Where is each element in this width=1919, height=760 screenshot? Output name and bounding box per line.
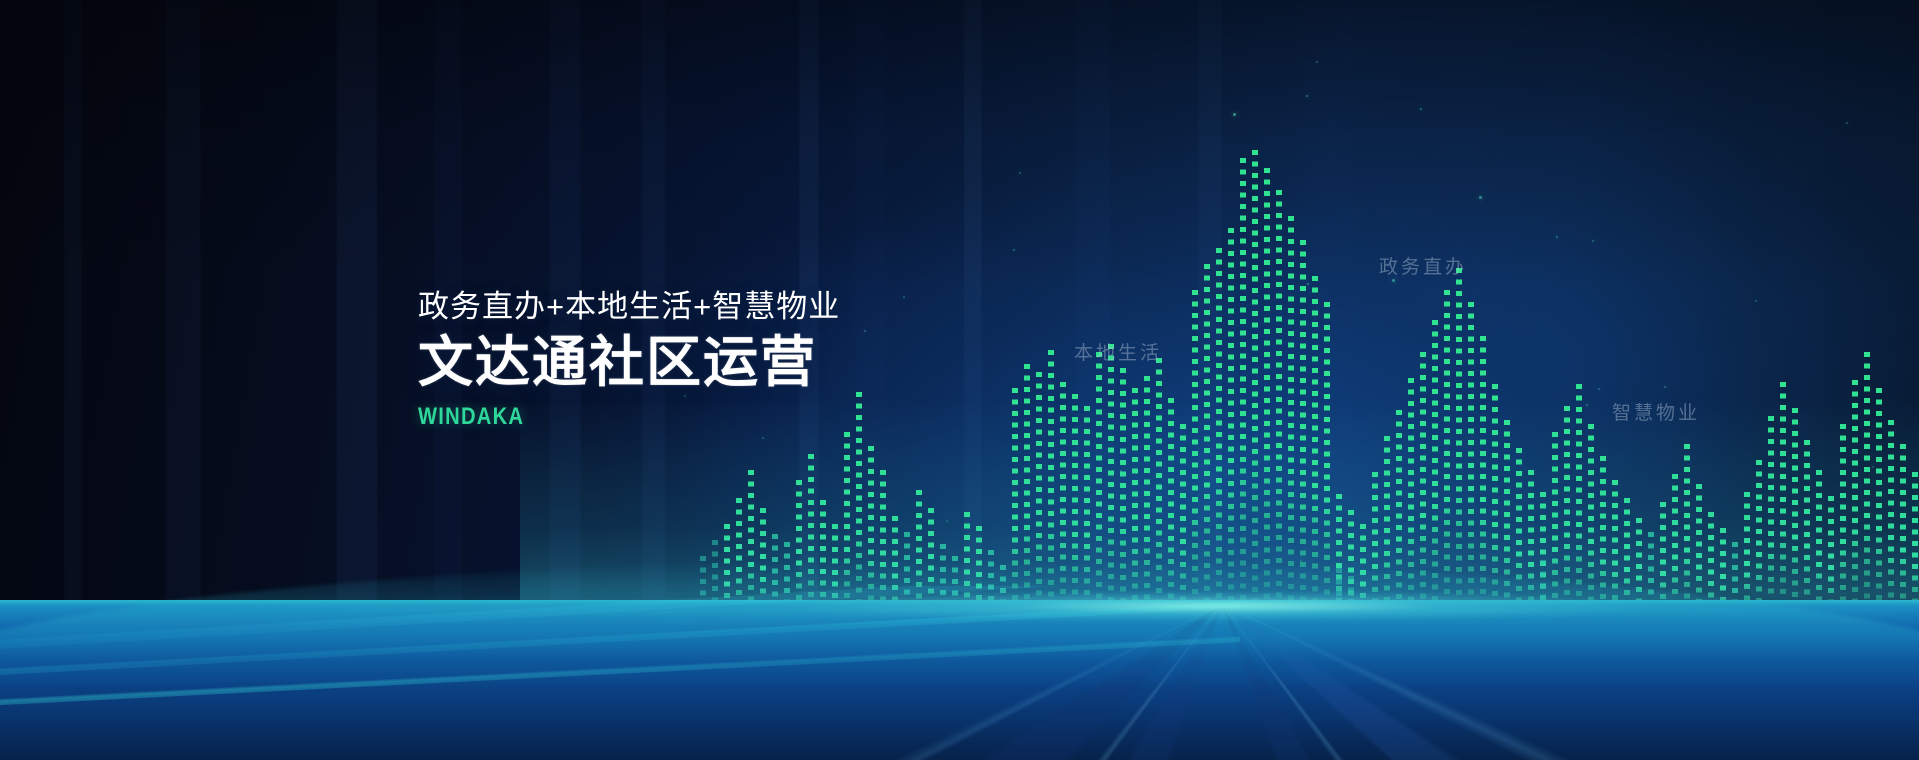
sparkle-dot [1019, 172, 1021, 174]
banner-title: 文达通社区运营 [418, 333, 1058, 392]
sparkle-dot [1316, 61, 1318, 63]
sparkle-dot [1598, 388, 1600, 390]
sparkle-dot [1479, 196, 1482, 199]
skyline-column [1300, 240, 1306, 620]
skyline-column [1264, 168, 1270, 620]
skyline-column [1768, 416, 1774, 620]
sparkle-dot [1306, 95, 1308, 97]
sparkle-dot [1420, 108, 1422, 110]
skyline-label-1: 本地生活 [1074, 338, 1162, 365]
skyline-column [1456, 268, 1462, 620]
brand-wordmark: WINDAKA [418, 403, 956, 431]
sparkle-dot [1846, 122, 1848, 124]
skyline-column [1444, 290, 1450, 620]
sparkle-dot [1592, 240, 1594, 242]
skyline-column [1276, 190, 1282, 620]
sparkle-dot [1300, 560, 1302, 562]
hero-banner: 本地生活政务直办智慧物业 政务直办+本地生活+智慧物业 文达通社区运营 WIND… [0, 0, 1919, 760]
sparkle-dot [1872, 466, 1874, 468]
skyline-label-3: 智慧物业 [1612, 398, 1700, 425]
sparkle-dot [1664, 386, 1666, 388]
skyline-column [1240, 158, 1246, 620]
sparkle-dot [1120, 470, 1122, 472]
skyline-column [1228, 228, 1234, 620]
skyline-column [1864, 352, 1870, 620]
sparkle-dot [1586, 404, 1588, 406]
sparkle-dot [1307, 283, 1309, 285]
skyline-column [1888, 420, 1894, 620]
skyline-column [1252, 150, 1258, 620]
sparkle-dot [946, 520, 948, 522]
sparkle-dot [1392, 279, 1395, 282]
skyline-column [1840, 424, 1846, 620]
sparkle-dot [1013, 249, 1015, 251]
headline-block: 政务直办+本地生活+智慧物业 文达通社区运营 WINDAKA [418, 290, 1058, 431]
sparkle-dot [1755, 300, 1757, 302]
skyline-column [1876, 388, 1882, 620]
skyline-column [1288, 216, 1294, 620]
sparkle-dot [1556, 236, 1558, 238]
sparkle-dot [762, 437, 764, 439]
skyline-column [1852, 380, 1858, 620]
horizon-glow [0, 592, 1919, 626]
skyline-column [1792, 408, 1798, 620]
skyline-column [1780, 382, 1786, 620]
sparkle-dot [1233, 113, 1236, 116]
skyline-column [1468, 302, 1474, 620]
skyline-label-2: 政务直办 [1379, 252, 1467, 279]
banner-subtitle: 政务直办+本地生活+智慧物业 [418, 290, 1058, 324]
